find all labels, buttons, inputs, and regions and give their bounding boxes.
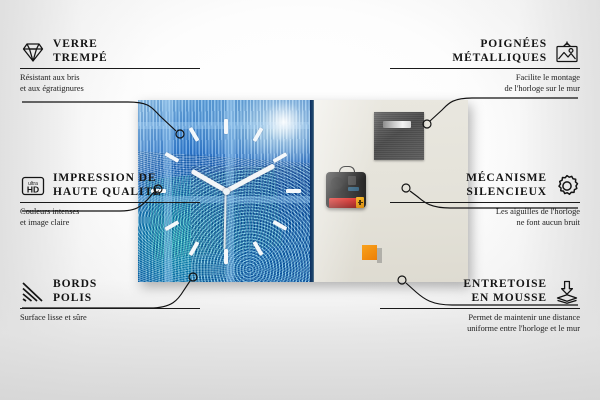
battery-plus-terminal bbox=[356, 197, 364, 208]
hour-tick bbox=[224, 119, 228, 134]
glass-highlight bbox=[228, 100, 314, 170]
callout-title: ENTRETOISE EN MOUSSE bbox=[463, 278, 547, 305]
callout-title: IMPRESSION DE HAUTE QUALITÉ bbox=[53, 172, 162, 199]
callout-header: POIGNÉES MÉTALLIQUES bbox=[390, 38, 580, 65]
callout-description: Résistant aux bris et aux égratignures bbox=[20, 73, 200, 94]
callout-poignees-metalliques: POIGNÉES MÉTALLIQUES Facilite le montage… bbox=[390, 38, 580, 94]
callout-description: Les aiguilles de l'horloge ne font aucun… bbox=[390, 207, 580, 228]
callout-rule bbox=[20, 308, 200, 309]
ultra-hd-badge-icon: ultra HD bbox=[20, 173, 46, 199]
hanging-frame-icon bbox=[554, 39, 580, 65]
infographic-canvas: VERRE TREMPÉ Résistant aux bris et aux é… bbox=[0, 0, 600, 400]
callout-rule bbox=[20, 68, 200, 69]
callout-title: MÉCANISME SILENCIEUX bbox=[466, 172, 547, 199]
callout-description: Facilite le montage de l'horloge sur le … bbox=[390, 73, 580, 94]
foam-spacer bbox=[362, 245, 377, 260]
callout-header: MÉCANISME SILENCIEUX bbox=[390, 172, 580, 199]
callout-impression-haute-qualite: ultra HD IMPRESSION DE HAUTE QUALITÉ Cou… bbox=[20, 172, 200, 228]
hanger-slot bbox=[383, 121, 411, 128]
callout-rule bbox=[390, 68, 580, 69]
clock-mechanism bbox=[326, 166, 366, 208]
diamond-icon bbox=[20, 39, 46, 65]
mechanism-detail bbox=[331, 177, 343, 189]
hour-tick bbox=[224, 249, 228, 264]
callout-title: VERRE TREMPÉ bbox=[53, 38, 108, 65]
callout-description: Permet de maintenir une distance uniform… bbox=[380, 313, 580, 334]
callout-header: ultra HD IMPRESSION DE HAUTE QUALITÉ bbox=[20, 172, 200, 199]
callout-rule bbox=[390, 202, 580, 203]
mechanism-body bbox=[326, 172, 366, 208]
polished-edge-icon bbox=[20, 279, 46, 305]
callout-description: Couleurs intenses et image claire bbox=[20, 207, 200, 228]
svg-text:HD: HD bbox=[27, 184, 39, 194]
callout-entretoise-en-mousse: ENTRETOISE EN MOUSSE Permet de maintenir… bbox=[380, 278, 580, 334]
callout-title: POIGNÉES MÉTALLIQUES bbox=[452, 38, 547, 65]
mechanism-hanger-loop bbox=[339, 166, 355, 177]
callout-description: Surface lisse et sûre bbox=[20, 313, 200, 324]
mechanism-detail bbox=[348, 176, 356, 185]
mechanism-battery bbox=[329, 198, 363, 208]
callout-bords-polis: BORDS POLIS Surface lisse et sûre bbox=[20, 278, 200, 324]
callout-header: VERRE TREMPÉ bbox=[20, 38, 200, 65]
arrow-onto-layers-icon bbox=[554, 279, 580, 305]
callout-header: ENTRETOISE EN MOUSSE bbox=[380, 278, 580, 305]
mechanism-detail bbox=[348, 187, 359, 191]
gear-icon bbox=[554, 173, 580, 199]
callout-mecanisme-silencieux: MÉCANISME SILENCIEUX Les aiguilles de l'… bbox=[390, 172, 580, 228]
callout-header: BORDS POLIS bbox=[20, 278, 200, 305]
callout-rule bbox=[380, 308, 580, 309]
callout-title: BORDS POLIS bbox=[53, 278, 97, 305]
metal-hanger-plate bbox=[374, 112, 424, 160]
callout-verre-trempe: VERRE TREMPÉ Résistant aux bris et aux é… bbox=[20, 38, 200, 94]
clock-center-cap bbox=[223, 188, 230, 195]
hour-tick bbox=[286, 189, 301, 193]
callout-rule bbox=[20, 202, 200, 203]
